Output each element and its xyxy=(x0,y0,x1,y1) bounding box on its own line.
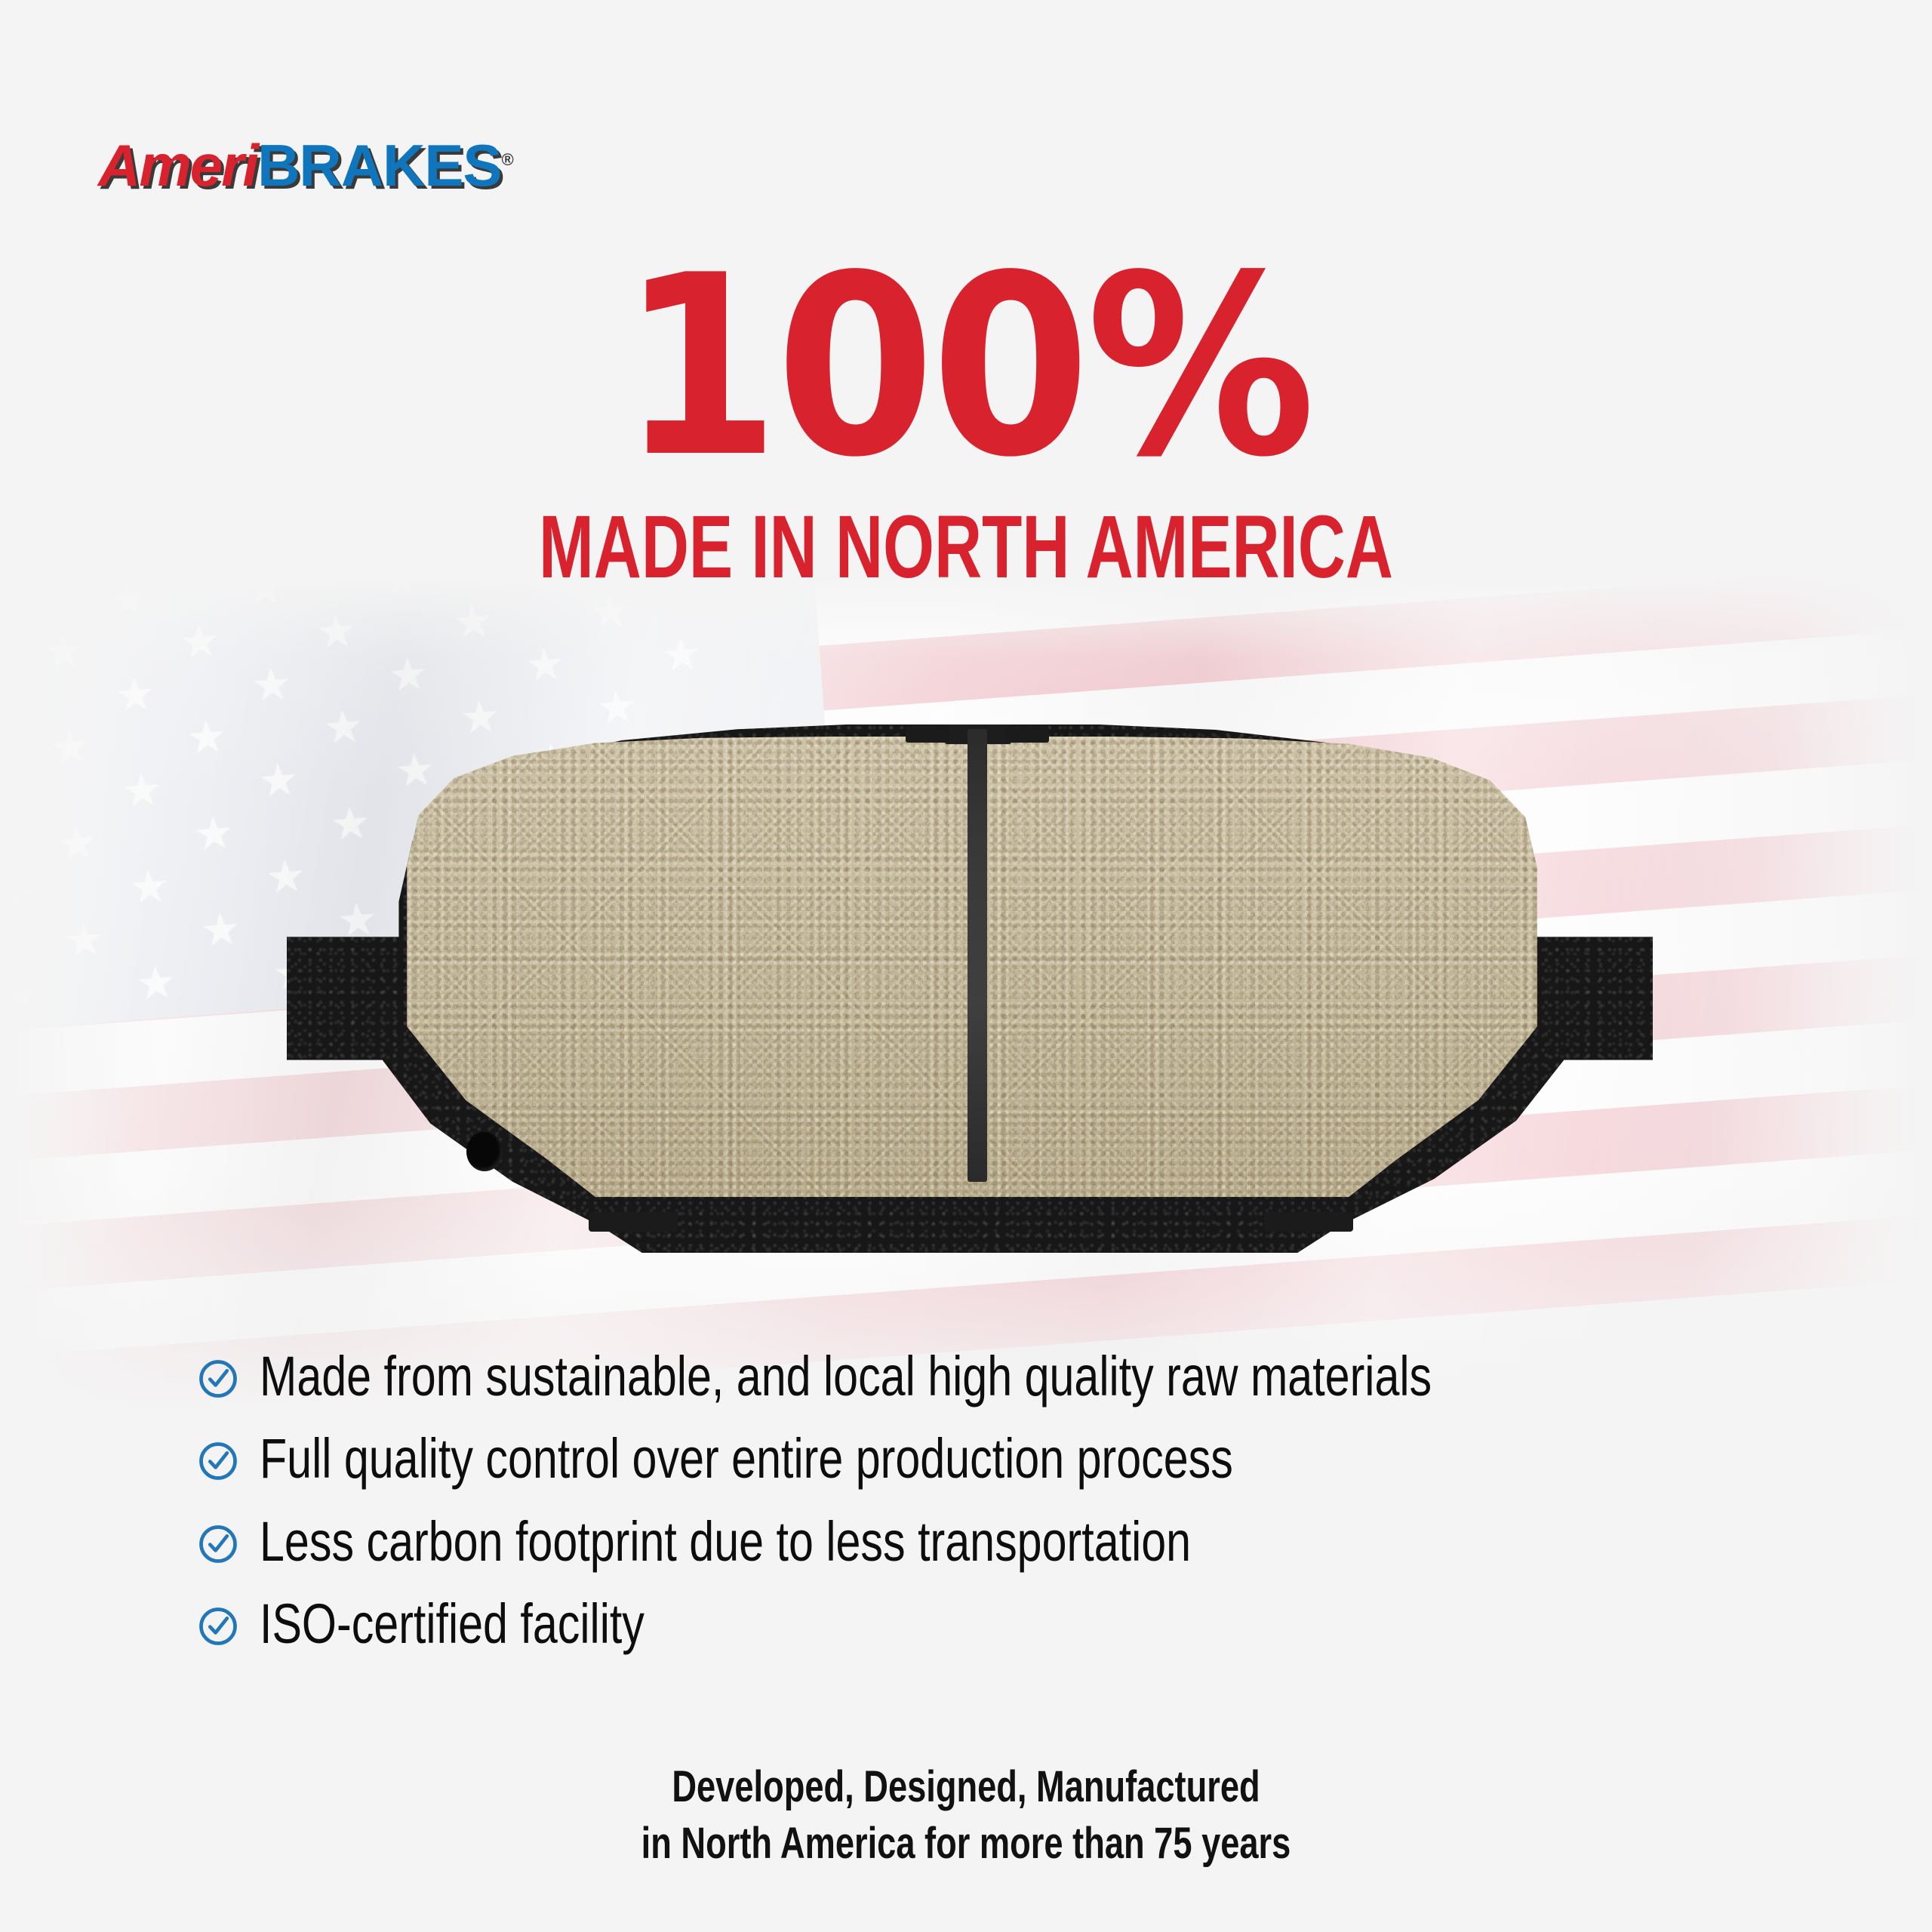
logo-text-ameri: Ameri xyxy=(98,132,257,198)
page-title: 100% xyxy=(77,249,1854,486)
headline-block: 100% MADE IN NORTH AMERICA xyxy=(0,249,1932,592)
flag-star-icon: ★ xyxy=(121,768,163,814)
flag-star-icon: ★ xyxy=(0,970,41,1017)
benefit-label: Full quality control over entire product… xyxy=(260,1430,1233,1487)
check-circle-icon xyxy=(198,1441,238,1481)
brake-pad-mounting-hole xyxy=(466,1132,503,1171)
flag-star-icon: ★ xyxy=(200,907,242,954)
benefits-list: Made from sustainable, and local high qu… xyxy=(198,1348,1798,1678)
brake-pad-photo xyxy=(287,724,1653,1298)
brand-logo[interactable]: AmeriBRAKES® xyxy=(98,136,514,195)
flag-star-icon: ★ xyxy=(179,619,221,666)
flag-star-icon: ★ xyxy=(524,641,566,688)
brake-pad-top-tab xyxy=(1005,726,1049,743)
flag-star-icon: ★ xyxy=(42,629,85,675)
page-subtitle: MADE IN NORTH AMERICA xyxy=(251,503,1681,592)
flag-star-icon: ★ xyxy=(315,609,358,656)
flag-star-icon: ★ xyxy=(192,811,235,857)
footer-tagline: Developed, Designed, Manufactured in Nor… xyxy=(0,1758,1932,1872)
registered-trademark-icon: ® xyxy=(501,150,513,169)
flag-star-icon: ★ xyxy=(387,652,429,699)
list-item: Less carbon footprint due to less transp… xyxy=(198,1513,1798,1570)
benefit-label: Less carbon footprint due to less transp… xyxy=(260,1513,1191,1570)
flag-star-icon: ★ xyxy=(56,821,98,868)
flag-star-icon: ★ xyxy=(0,586,13,632)
brake-pad-center-slot xyxy=(968,729,987,1182)
flag-star-icon: ★ xyxy=(452,598,494,645)
list-item: Full quality control over entire product… xyxy=(198,1430,1798,1487)
check-circle-icon xyxy=(198,1606,238,1647)
list-item: ISO-certified facility xyxy=(198,1595,1798,1652)
benefit-label: Made from sustainable, and local high qu… xyxy=(260,1348,1432,1404)
flag-star-icon: ★ xyxy=(63,917,106,964)
list-item: Made from sustainable, and local high qu… xyxy=(198,1348,1798,1404)
flag-star-icon: ★ xyxy=(0,778,26,825)
benefit-label: ISO-certified facility xyxy=(260,1595,645,1652)
logo-text-brakes: BRAKES xyxy=(257,132,501,198)
flag-star-icon: ★ xyxy=(0,681,20,728)
flag-star-icon: ★ xyxy=(49,724,91,771)
brake-pad-bottom-tab xyxy=(589,1212,678,1232)
flag-star-icon: ★ xyxy=(186,715,228,761)
flag-star-icon: ★ xyxy=(0,874,34,921)
flag-star-icon: ★ xyxy=(660,632,703,678)
check-circle-icon xyxy=(198,1358,238,1399)
footer-line-1: Developed, Designed, Manufactured xyxy=(213,1758,1720,1815)
footer-line-2: in North America for more than 75 years xyxy=(213,1815,1720,1872)
flag-star-icon: ★ xyxy=(114,672,156,718)
check-circle-icon xyxy=(198,1524,238,1564)
flag-star-icon: ★ xyxy=(251,662,293,709)
brake-pad-top-tab xyxy=(906,726,949,743)
flag-star-icon: ★ xyxy=(135,960,177,1007)
flag-star-icon: ★ xyxy=(128,864,170,911)
brake-pad-bottom-tab xyxy=(1264,1212,1353,1232)
